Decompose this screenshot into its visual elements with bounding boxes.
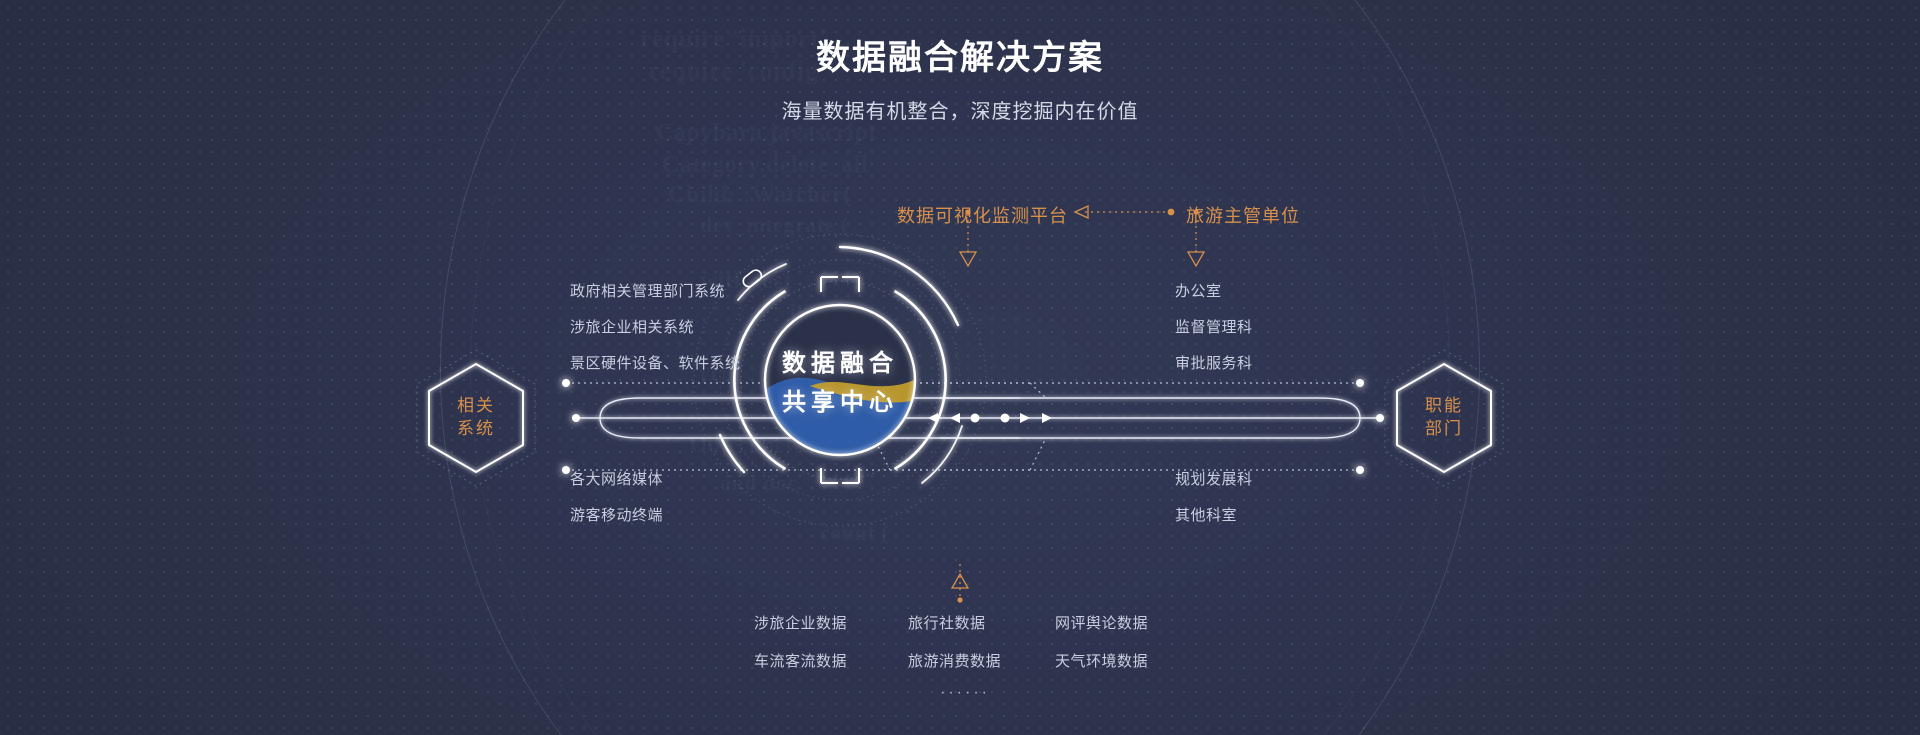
data-more-ellipsis: ······ [940, 684, 990, 702]
data-weather-environment[interactable]: 天气环境数据 [1055, 650, 1148, 671]
data-online-review-opinion[interactable]: 网评舆论数据 [1055, 612, 1148, 633]
source-scenic-hardware-software-system[interactable]: 景区硬件设备、软件系统 [570, 352, 741, 373]
page-title: 数据融合解决方案 [0, 0, 1920, 79]
badge-right-line-1: 职能 [1425, 395, 1463, 418]
badge-left-line-1: 相关 [457, 395, 495, 418]
source-tourism-enterprise-system[interactable]: 涉旅企业相关系统 [570, 316, 694, 337]
data-travel-agency[interactable]: 旅行社数据 [908, 612, 986, 633]
badge-right-line-2: 部门 [1425, 418, 1463, 441]
data-traffic-passenger-flow[interactable]: 车流客流数据 [754, 650, 847, 671]
page-subtitle: 海量数据有机整合，深度挖掘内在价值 [0, 79, 1920, 124]
center-hub: 数据融合 共享中心 [690, 230, 990, 530]
node-tourism-authority[interactable]: 旅游主管单位 [1186, 202, 1300, 228]
data-tourism-enterprise[interactable]: 涉旅企业数据 [754, 612, 847, 633]
header: 数据融合解决方案 海量数据有机整合，深度挖掘内在价值 [0, 0, 1920, 124]
data-tourism-consumption[interactable]: 旅游消费数据 [908, 650, 1001, 671]
badge-right-functional-departments[interactable]: 职能 部门 [1382, 348, 1506, 488]
badge-left-related-systems[interactable]: 相关 系统 [414, 348, 538, 488]
badge-left-line-2: 系统 [457, 418, 495, 441]
badge-right-text: 职能 部门 [1382, 348, 1506, 488]
source-gov-dept-system[interactable]: 政府相关管理部门系统 [570, 280, 725, 301]
dept-approval-service[interactable]: 审批服务科 [1175, 352, 1253, 373]
badge-left-text: 相关 系统 [414, 348, 538, 488]
dept-other-offices[interactable]: 其他科室 [1175, 504, 1237, 525]
source-tourist-mobile-terminal[interactable]: 游客移动终端 [570, 504, 663, 525]
infographic-canvas: require 'import' require 'config' Capyba… [0, 0, 1920, 735]
source-network-media[interactable]: 各大网络媒体 [570, 468, 663, 489]
dept-supervision-management[interactable]: 监督管理科 [1175, 316, 1253, 337]
node-visualization-platform[interactable]: 数据可视化监测平台 [897, 202, 1068, 228]
dept-planning-development[interactable]: 规划发展科 [1175, 468, 1253, 489]
dept-office[interactable]: 办公室 [1175, 280, 1222, 301]
